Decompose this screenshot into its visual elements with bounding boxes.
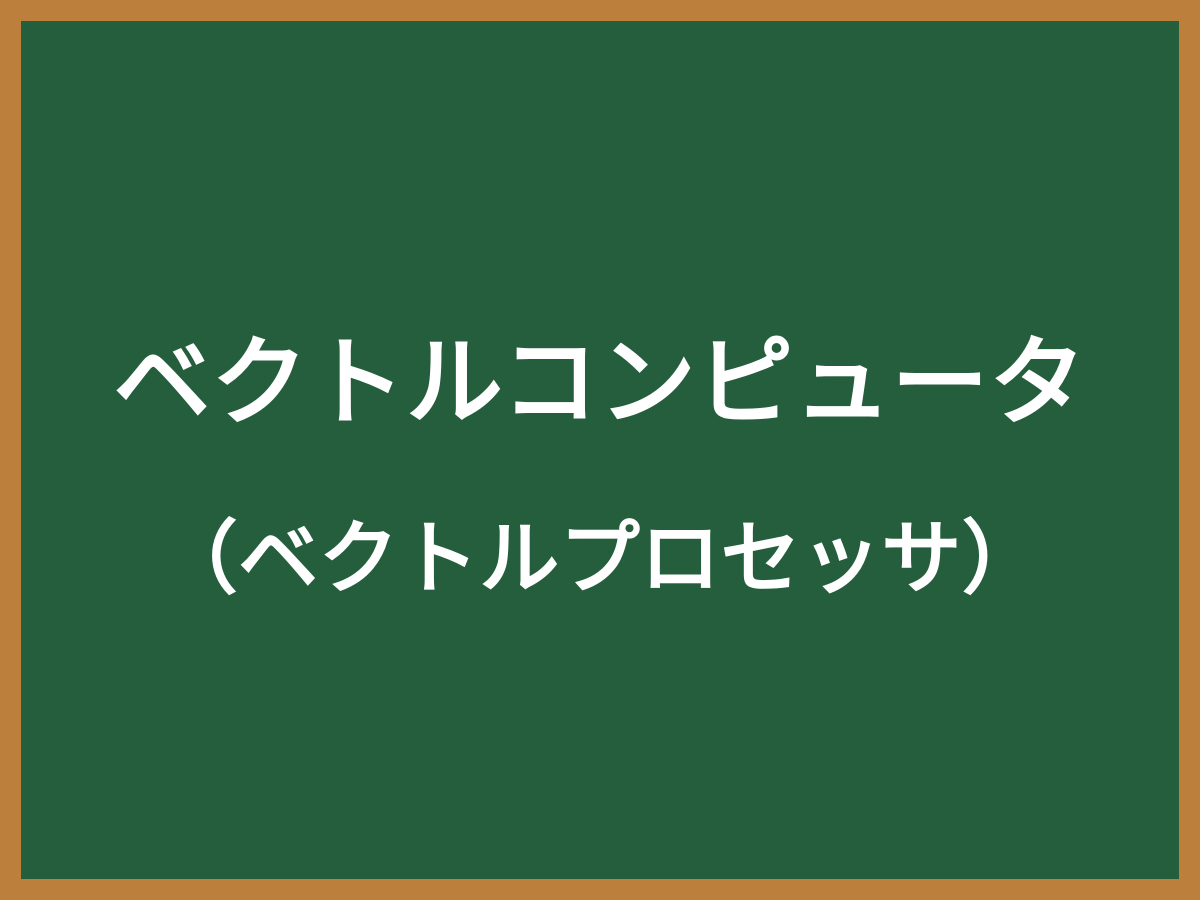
chalkboard-panel: ベクトルコンピュータ （ベクトルプロセッサ） <box>21 21 1179 879</box>
page-subtitle: （ベクトルプロセッサ） <box>21 431 1179 599</box>
slide-frame: ベクトルコンピュータ （ベクトルプロセッサ） <box>0 0 1200 900</box>
title-block: ベクトルコンピュータ （ベクトルプロセッサ） <box>21 334 1179 599</box>
page-title: ベクトルコンピュータ <box>21 334 1179 431</box>
